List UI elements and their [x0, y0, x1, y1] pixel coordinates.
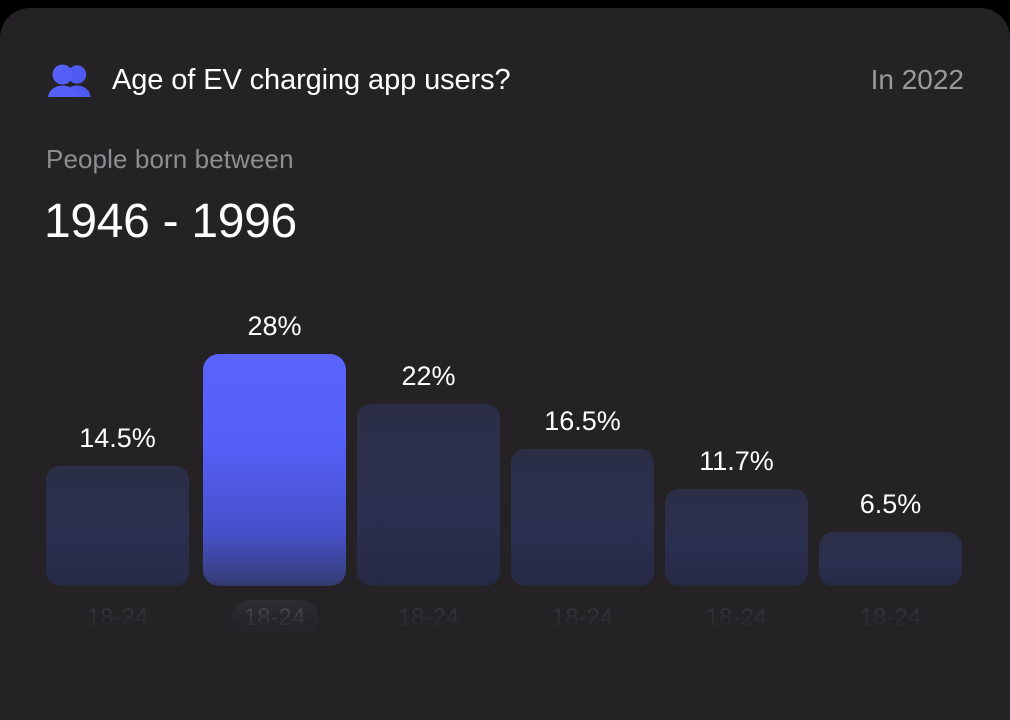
bar-category-label: 18-24 [511, 604, 654, 632]
bar-category-label: 18-24 [819, 604, 962, 632]
bar-value-label: 16.5% [511, 406, 654, 437]
summary-label: People born between [46, 144, 294, 175]
bar-value-label: 6.5% [819, 489, 962, 520]
bar-column-highlighted[interactable]: 28% 18-24 [203, 298, 346, 720]
bar[interactable] [203, 354, 346, 586]
bar[interactable] [665, 489, 808, 586]
bar[interactable] [511, 449, 654, 586]
card-header: Age of EV charging app users? In 2022 [46, 52, 964, 108]
bar-value-label: 28% [203, 311, 346, 342]
bar[interactable] [819, 532, 962, 586]
bar-column[interactable]: 22% 18-24 [357, 298, 500, 720]
bar-column[interactable]: 6.5% 18-24 [819, 298, 962, 720]
bar-value-label: 11.7% [665, 446, 808, 477]
people-icon [46, 63, 94, 97]
bar-category-label: 18-24 [203, 604, 346, 632]
page-title: Age of EV charging app users? [112, 64, 511, 97]
summary-value: 1946 - 1996 [44, 194, 297, 249]
chart-card: Age of EV charging app users? In 2022 Pe… [0, 8, 1010, 720]
bar-category-label: 18-24 [665, 604, 808, 632]
bar[interactable] [357, 404, 500, 586]
bar-column[interactable]: 14.5% 18-24 [46, 298, 189, 720]
bar-chart: 14.5% 18-24 28% 18-24 22% 18-24 16.5% 18… [0, 298, 1010, 720]
bar-column[interactable]: 11.7% 18-24 [665, 298, 808, 720]
bar-value-label: 22% [357, 361, 500, 392]
bar-category-label: 18-24 [357, 604, 500, 632]
bar-category-label: 18-24 [46, 604, 189, 632]
period-label: In 2022 [871, 64, 964, 96]
bar[interactable] [46, 466, 189, 586]
bar-column[interactable]: 16.5% 18-24 [511, 298, 654, 720]
bar-value-label: 14.5% [46, 423, 189, 454]
